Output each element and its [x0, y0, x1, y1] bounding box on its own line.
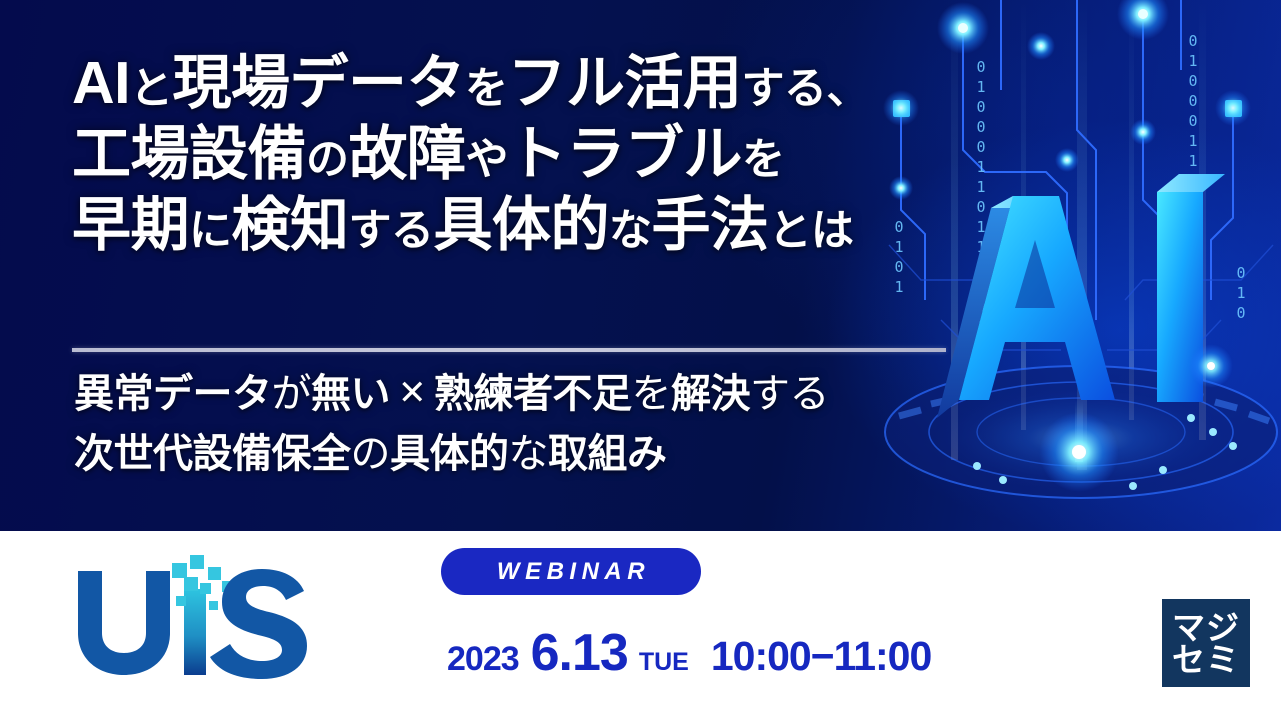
title-seg: する: [349, 207, 434, 255]
cross-icon: ✕: [390, 374, 434, 412]
subtitle-seg: 取組み: [548, 432, 667, 476]
subtitle-seg: を: [632, 372, 672, 416]
svg-text:1: 1: [1188, 52, 1197, 70]
subtitle-seg: 次世代設備保全: [74, 432, 351, 476]
title-seg: 工場設備: [72, 121, 306, 187]
title-seg: 現場データ: [173, 50, 466, 116]
webinar-badge[interactable]: WEBINAR: [441, 548, 701, 595]
svg-text:1: 1: [894, 278, 903, 296]
svg-text:1: 1: [1188, 132, 1197, 150]
majisemi-row-1: マジ: [1172, 612, 1240, 644]
svg-text:0: 0: [976, 198, 985, 216]
svg-text:0: 0: [1188, 92, 1197, 110]
subtitle-seg: が: [272, 372, 312, 416]
svg-text:0: 0: [976, 98, 985, 116]
title-seg: と: [130, 65, 173, 113]
subtitle-line-1: 異常データが無い✕熟練者不足を解決する: [74, 374, 974, 414]
subtitle-seg: 異常データ: [74, 372, 272, 416]
title-seg: とは: [769, 207, 854, 255]
title-seg: の: [306, 136, 349, 184]
title-seg: フル活用: [508, 50, 742, 116]
subtitle-seg: の: [351, 432, 391, 476]
event-time: 10:00−11:00: [711, 633, 931, 680]
event-date: 2023 6.13 TUE 10:00−11:00: [447, 623, 931, 681]
event-day-of-week: TUE: [639, 648, 689, 677]
svg-text:0: 0: [976, 118, 985, 136]
title-seg: や: [466, 136, 509, 184]
title-seg: トラブル: [508, 121, 742, 187]
svg-text:1: 1: [1236, 284, 1245, 302]
svg-text:1: 1: [976, 78, 985, 96]
subtitle-seg: 熟練者不足: [434, 372, 632, 416]
uis-logo: [72, 549, 322, 679]
title-line-1: AIと現場データをフル活用する、: [72, 54, 952, 113]
title-block: AIと現場データをフル活用する、 工場設備の故障やトラブルを 早期に検知する具体…: [72, 54, 952, 255]
subtitle-block: 異常データが無い✕熟練者不足を解決する 次世代設備保全の具体的な取組み: [74, 374, 974, 474]
svg-text:0: 0: [1236, 264, 1245, 282]
majisemi-logo[interactable]: マジ セミ: [1162, 599, 1250, 687]
title-seg: 故障: [349, 121, 466, 187]
subtitle-seg: 具体的: [390, 432, 509, 476]
subtitle-seg: 無い: [311, 372, 390, 416]
event-year: 2023: [447, 640, 519, 679]
title-line-2: 工場設備の故障やトラブルを: [72, 125, 952, 184]
title-line-3: 早期に検知する具体的な手法とは: [72, 196, 952, 255]
svg-text:0: 0: [1188, 32, 1197, 50]
svg-text:0: 0: [894, 258, 903, 276]
svg-text:0: 0: [976, 58, 985, 76]
divider: [72, 348, 946, 352]
event-month-day: 6.13: [531, 623, 628, 683]
hero-section: 0100 0110 1101 010 0100 0110 1010 1 0101: [0, 0, 1281, 531]
title-seg: 具体的: [434, 192, 610, 258]
title-seg: 検知: [232, 192, 349, 258]
svg-text:0: 0: [1236, 304, 1245, 322]
subtitle-seg: 解決: [671, 372, 750, 416]
subtitle-seg: する: [750, 372, 829, 416]
svg-text:0: 0: [1188, 72, 1197, 90]
subtitle-line-2: 次世代設備保全の具体的な取組み: [74, 434, 974, 474]
title-seg: する、: [742, 65, 870, 113]
subtitle-seg: な: [509, 432, 549, 476]
svg-text:1: 1: [976, 218, 985, 236]
title-seg: に: [189, 207, 232, 255]
svg-text:1: 1: [976, 158, 985, 176]
title-seg: AI: [72, 50, 130, 116]
title-seg: を: [465, 65, 508, 113]
svg-text:1: 1: [976, 178, 985, 196]
title-seg: 早期: [72, 192, 189, 258]
webinar-badge-label: WEBINAR: [492, 558, 650, 586]
webinar-banner: 0100 0110 1101 010 0100 0110 1010 1 0101: [0, 0, 1281, 719]
svg-text:1: 1: [1188, 152, 1197, 170]
title-seg: な: [609, 207, 652, 255]
svg-text:0: 0: [976, 138, 985, 156]
title-seg: を: [742, 136, 785, 184]
title-seg: 手法: [652, 192, 769, 258]
svg-text:0: 0: [1188, 112, 1197, 130]
majisemi-row-2: セミ: [1172, 644, 1240, 676]
